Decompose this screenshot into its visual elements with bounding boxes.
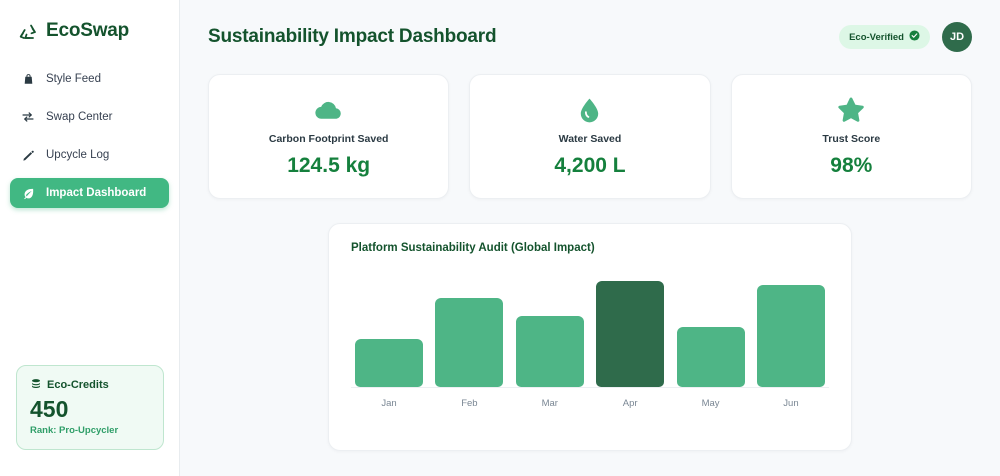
sidebar-item-label: Style Feed (46, 73, 101, 85)
bar-chart-plot (351, 272, 829, 388)
bar-mar[interactable] (516, 316, 584, 387)
bar-column (757, 285, 825, 387)
bar-column (435, 298, 503, 387)
topbar: Sustainability Impact Dashboard Eco-Veri… (208, 22, 972, 52)
x-tick-label: May (677, 398, 745, 409)
stats-row: Carbon Footprint Saved 124.5 kg Water Sa… (208, 74, 972, 199)
eco-credits-title: Eco-Credits (47, 379, 109, 391)
chart-title: Platform Sustainability Audit (Global Im… (351, 242, 829, 254)
sidebar-item-upcycle-log[interactable]: Upcycle Log (10, 140, 169, 170)
bar-jun[interactable] (757, 285, 825, 387)
eco-credits-rank: Rank: Pro-Upcycler (30, 425, 150, 436)
stat-label: Carbon Footprint Saved (219, 133, 438, 145)
topbar-actions: Eco-Verified JD (839, 22, 972, 52)
avatar-initials: JD (950, 31, 964, 43)
eco-credits-card: Eco-Credits 450 Rank: Pro-Upcycler (16, 365, 164, 450)
leaf-icon (21, 186, 35, 200)
stat-value: 124.5 kg (219, 154, 438, 178)
stat-value: 98% (742, 154, 961, 178)
stat-card-water-saved: Water Saved 4,200 L (469, 74, 710, 199)
stat-label: Water Saved (480, 133, 699, 145)
main-content: Sustainability Impact Dashboard Eco-Veri… (180, 0, 1000, 476)
eco-credits-value: 450 (30, 396, 150, 422)
bar-column (596, 281, 664, 387)
status-badge-eco-verified[interactable]: Eco-Verified (839, 25, 930, 49)
bar-column (355, 339, 423, 387)
x-axis-labels: Jan Feb Mar Apr May Jun (351, 398, 829, 409)
sustainability-audit-chart-card: Platform Sustainability Audit (Global Im… (328, 223, 852, 451)
bar-column (516, 316, 584, 387)
water-drop-icon (480, 93, 699, 127)
bar-jan[interactable] (355, 339, 423, 387)
sidebar-item-label: Swap Center (46, 111, 112, 123)
bar-feb[interactable] (435, 298, 503, 387)
check-circle-icon (909, 30, 920, 44)
x-tick-label: Jan (355, 398, 423, 409)
bar-may[interactable] (677, 327, 745, 387)
x-tick-label: Apr (596, 398, 664, 409)
eco-credits-header: Eco-Credits (30, 378, 150, 393)
stat-label: Trust Score (742, 133, 961, 145)
sidebar-item-label: Impact Dashboard (46, 187, 146, 199)
sidebar-nav: Style Feed Swap Center Upcycle Log (0, 64, 179, 208)
bar-apr[interactable] (596, 281, 664, 387)
sidebar-item-swap-center[interactable]: Swap Center (10, 102, 169, 132)
sidebar-item-label: Upcycle Log (46, 149, 109, 161)
handbag-icon (21, 72, 35, 86)
recycle-icon (17, 20, 39, 42)
x-tick-label: Feb (435, 398, 503, 409)
stat-card-carbon-footprint: Carbon Footprint Saved 124.5 kg (208, 74, 449, 199)
page-title: Sustainability Impact Dashboard (208, 26, 496, 48)
sidebar-item-style-feed[interactable]: Style Feed (10, 64, 169, 94)
pencil-icon (21, 148, 35, 162)
stat-card-trust-score: Trust Score 98% (731, 74, 972, 199)
bar-column (677, 327, 745, 387)
avatar[interactable]: JD (942, 22, 972, 52)
sidebar-item-impact-dashboard[interactable]: Impact Dashboard (10, 178, 169, 208)
brand-name: EcoSwap (46, 20, 129, 42)
x-tick-label: Mar (516, 398, 584, 409)
swap-arrows-icon (21, 110, 35, 124)
coins-stack-icon (30, 378, 42, 393)
star-icon (742, 93, 961, 127)
badge-label: Eco-Verified (849, 32, 904, 43)
brand-logo[interactable]: EcoSwap (0, 0, 179, 42)
x-tick-label: Jun (757, 398, 825, 409)
cloud-icon (219, 93, 438, 127)
sidebar: EcoSwap Style Feed Swap Center (0, 0, 180, 476)
stat-value: 4,200 L (480, 154, 699, 178)
